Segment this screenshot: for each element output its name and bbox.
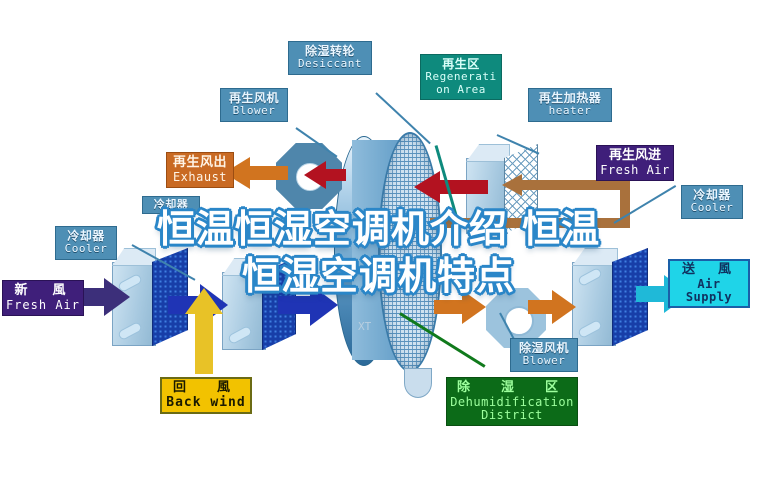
label-regen-fresh-air: 再生风进 Fresh Air <box>596 145 674 181</box>
label-regeneration-area: 再生区 Regenerati on Area <box>420 54 502 100</box>
label-exhaust-en: Exhaust <box>169 171 231 184</box>
label-regen-blower: 再生风机 Blower <box>220 88 288 122</box>
label-regeneration-area-cn: 再生区 <box>423 58 499 71</box>
label-desiccant-wheel-cn: 除湿转轮 <box>291 45 369 58</box>
label-regen-blower-cn: 再生风机 <box>223 92 285 105</box>
diagram-canvas: XT <box>0 0 757 488</box>
label-exhaust-cn: 再生风出 <box>169 156 231 171</box>
label-regen-fresh-air-en: Fresh Air <box>599 164 671 177</box>
label-dehumidification-district: 除 湿 区 Dehumidification District <box>446 377 578 426</box>
label-back-wind-en: Back wind <box>164 396 248 411</box>
label-dehumid-blower-en: Blower <box>513 355 575 367</box>
label-dehumid-blower-cn: 除湿风机 <box>513 342 575 355</box>
label-dehumid-blower: 除湿风机 Blower <box>510 338 578 372</box>
label-regeneration-heater: 再生加热器 heater <box>528 88 612 122</box>
label-dehumidification-district-en1: Dehumidification <box>449 396 575 409</box>
label-back-wind: 回 風 Back wind <box>160 377 252 414</box>
overlay-title-line2: 恒湿空调机特点 <box>0 253 757 300</box>
overlay-title: 恒温恒湿空调机介绍 恒温 恒湿空调机特点 <box>0 206 757 300</box>
label-regen-blower-en: Blower <box>223 105 285 117</box>
label-fresh-air-en: Fresh Air <box>5 299 81 312</box>
label-back-wind-cn: 回 風 <box>164 381 248 396</box>
label-dehumidification-district-cn: 除 湿 区 <box>449 381 575 396</box>
overlay-title-line1: 恒温恒湿空调机介绍 恒温 <box>0 206 757 253</box>
label-desiccant-wheel: 除湿转轮 Desiccant <box>288 41 372 75</box>
label-regeneration-heater-en: heater <box>531 105 609 117</box>
watermark: XT <box>358 320 371 333</box>
label-exhaust: 再生风出 Exhaust <box>166 152 234 188</box>
label-regen-fresh-air-cn: 再生风进 <box>599 149 671 164</box>
label-cooler-right-cn: 冷却器 <box>684 189 740 202</box>
label-desiccant-wheel-en: Desiccant <box>291 58 369 70</box>
label-regeneration-area-en1: Regenerati <box>423 71 499 83</box>
label-dehumidification-district-en2: District <box>449 409 575 422</box>
label-regeneration-heater-cn: 再生加热器 <box>531 92 609 105</box>
label-regeneration-area-en2: on Area <box>423 84 499 96</box>
